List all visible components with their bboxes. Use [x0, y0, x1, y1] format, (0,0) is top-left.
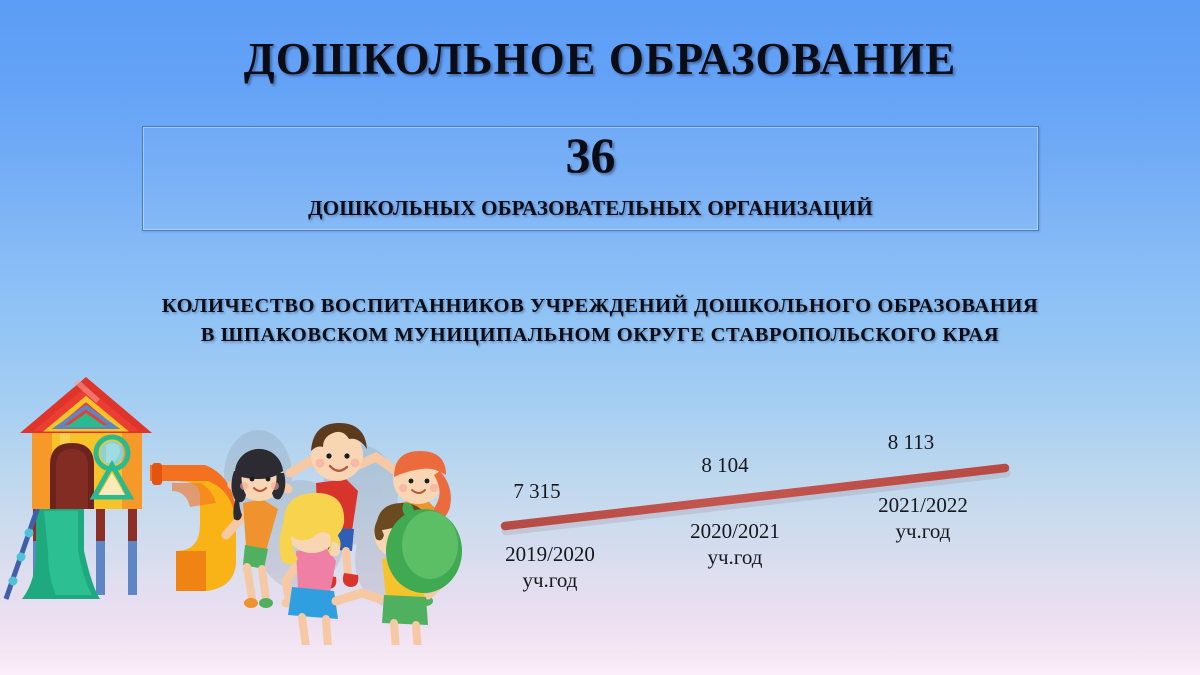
organizations-count-number: 36: [143, 129, 1038, 182]
child-d-hair: [284, 493, 345, 540]
children-group: [226, 423, 462, 645]
data-point-value-2: 8 113: [856, 430, 966, 455]
child-e-shorts: [382, 595, 428, 625]
slide-canvas: ДОШКОЛЬНОЕ ОБРАЗОВАНИЕ 36 ДОШКОЛЬНЫХ ОБР…: [0, 0, 1200, 675]
data-point-label-1-line1: 2020/2021: [655, 519, 815, 545]
rope-knots: [9, 529, 34, 586]
data-point-label-0: 2019/2020 уч.год: [470, 542, 630, 593]
data-point-value-0: 7 315: [482, 479, 592, 504]
chart-heading-line-2: В ШПАКОВСКОМ МУНИЦИПАЛЬНОМ ОКРУГЕ СТАВРО…: [0, 321, 1200, 350]
data-point-label-2-line2: уч.год: [838, 519, 1008, 545]
data-point-label-2-line1: 2021/2022: [838, 493, 1008, 519]
chart-heading-line-1: КОЛИЧЕСТВО ВОСПИТАННИКОВ УЧРЕЖДЕНИЙ ДОШК…: [0, 292, 1200, 321]
data-point-label-0-line1: 2019/2020: [470, 542, 630, 568]
data-point-label-1-line2: уч.год: [655, 545, 815, 571]
child-blond-girl: [279, 493, 344, 645]
chart-heading: КОЛИЧЕСТВО ВОСПИТАННИКОВ УЧРЕЖДЕНИЙ ДОШК…: [0, 292, 1200, 350]
playground-illustration: [0, 355, 480, 645]
organizations-count-caption: ДОШКОЛЬНЫХ ОБРАЗОВАТЕЛЬНЫХ ОРГАНИЗАЦИЙ: [143, 196, 1038, 221]
page-title: ДОШКОЛЬНОЕ ОБРАЗОВАНИЕ: [0, 33, 1200, 85]
data-point-label-0-line2: уч.год: [470, 568, 630, 594]
enrollment-line-chart: 7 315 8 104 8 113 2019/2020 уч.год 2020/…: [470, 415, 1070, 630]
playground-structure: [6, 377, 236, 599]
organizations-count-box: 36 ДОШКОЛЬНЫХ ОБРАЗОВАТЕЛЬНЫХ ОРГАНИЗАЦИ…: [142, 126, 1039, 231]
child-d-skirt: [288, 587, 338, 619]
data-point-value-1: 8 104: [670, 453, 780, 478]
data-point-label-1: 2020/2021 уч.год: [655, 519, 815, 570]
data-point-label-2: 2021/2022 уч.год: [838, 493, 1008, 544]
